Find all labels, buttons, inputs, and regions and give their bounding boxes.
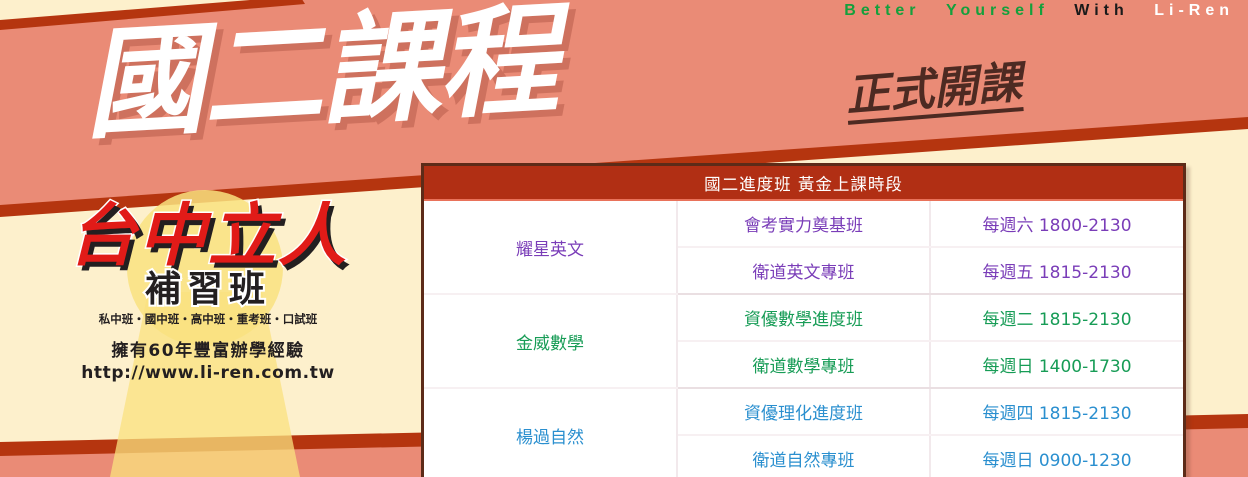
course-time-cell: 每週六 1800-2130 bbox=[930, 200, 1183, 247]
subject-cell: 耀星英文 bbox=[424, 200, 677, 294]
schedule-table-head: 國二進度班 黃金上課時段 bbox=[424, 166, 1183, 200]
course-time-cell: 每週五 1815-2130 bbox=[930, 247, 1183, 294]
subject-cell: 楊過自然 bbox=[424, 388, 677, 477]
course-name-cell: 衛道英文專班 bbox=[677, 247, 930, 294]
logo-class-list: 私中班・國中班・高中班・重考班・口試班 bbox=[28, 314, 388, 326]
logo-school-name: 台中立人 bbox=[28, 202, 388, 270]
promo-banner: Better Yourself With Li-Ren 國二課程 正式開課 台中… bbox=[0, 0, 1248, 477]
logo-school-type: 補習班 bbox=[28, 272, 388, 308]
logo-website-url: http://www.li-ren.com.tw bbox=[28, 362, 388, 384]
course-time-cell: 每週日 1400-1730 bbox=[930, 341, 1183, 388]
subject-cell: 金威數學 bbox=[424, 294, 677, 388]
tagline-word-with: With bbox=[1074, 2, 1129, 19]
tagline: Better Yourself With Li-Ren bbox=[0, 2, 1248, 20]
course-name-cell: 會考實力奠基班 bbox=[677, 200, 930, 247]
logo-experience: 擁有60年豐富辦學經驗 bbox=[28, 340, 388, 363]
schedule-table-body: 耀星英文會考實力奠基班每週六 1800-2130衛道英文專班每週五 1815-2… bbox=[424, 200, 1183, 477]
schedule-table: 國二進度班 黃金上課時段 耀星英文會考實力奠基班每週六 1800-2130衛道英… bbox=[424, 166, 1183, 477]
tagline-word-better: Better bbox=[844, 2, 920, 19]
tagline-word-yourself: Yourself bbox=[946, 2, 1049, 19]
schedule-header-row: 國二進度班 黃金上課時段 bbox=[424, 166, 1183, 200]
schedule-table-container: 國二進度班 黃金上課時段 耀星英文會考實力奠基班每週六 1800-2130衛道英… bbox=[421, 163, 1186, 477]
school-logo: 台中立人 補習班 私中班・國中班・高中班・重考班・口試班 擁有60年豐富辦學經驗… bbox=[28, 196, 388, 418]
course-time-cell: 每週二 1815-2130 bbox=[930, 294, 1183, 341]
tagline-word-liren: Li-Ren bbox=[1154, 2, 1234, 19]
course-time-cell: 每週日 0900-1230 bbox=[930, 435, 1183, 477]
table-row: 金威數學資優數學進度班每週二 1815-2130 bbox=[424, 294, 1183, 341]
page-title: 國二課程 bbox=[81, 0, 559, 151]
course-name-cell: 衛道數學專班 bbox=[677, 341, 930, 388]
course-name-cell: 衛道自然專班 bbox=[677, 435, 930, 477]
course-name-cell: 資優理化進度班 bbox=[677, 388, 930, 435]
schedule-title: 國二進度班 黃金上課時段 bbox=[424, 166, 1183, 200]
course-time-cell: 每週四 1815-2130 bbox=[930, 388, 1183, 435]
table-row: 耀星英文會考實力奠基班每週六 1800-2130 bbox=[424, 200, 1183, 247]
table-row: 楊過自然資優理化進度班每週四 1815-2130 bbox=[424, 388, 1183, 435]
course-name-cell: 資優數學進度班 bbox=[677, 294, 930, 341]
